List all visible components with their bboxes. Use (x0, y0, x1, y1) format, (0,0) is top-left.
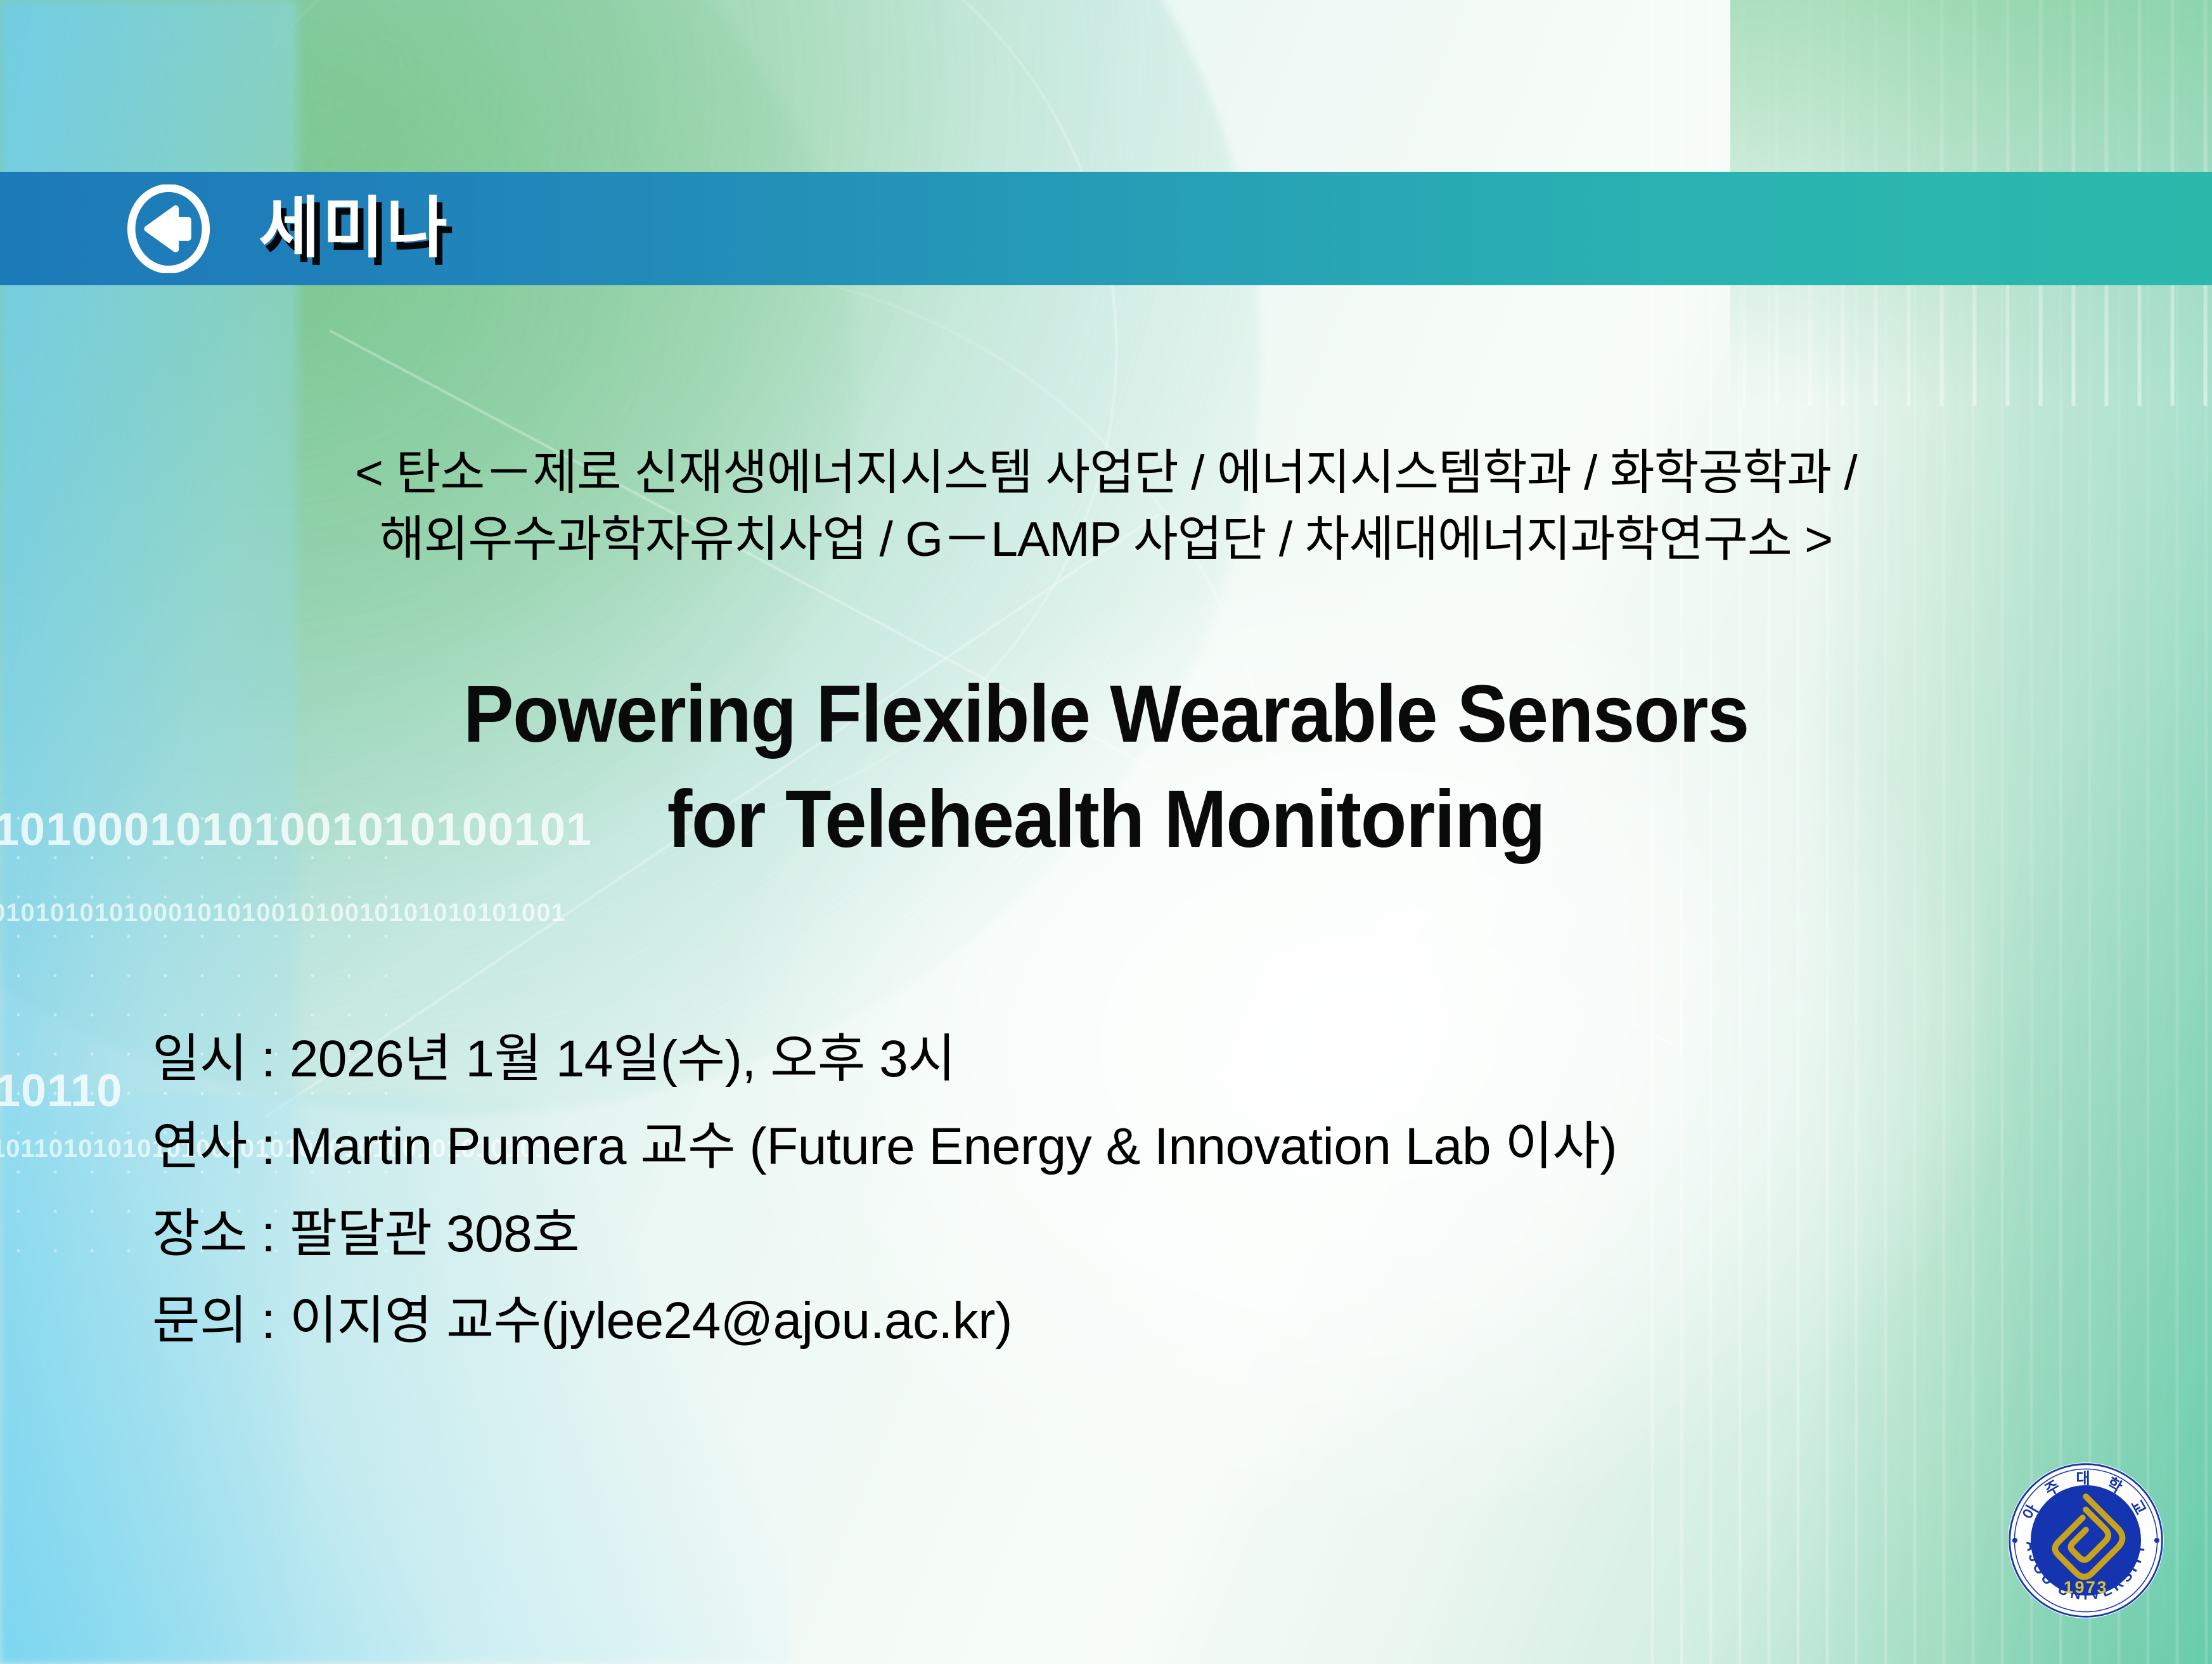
ajou-university-logo: 아 주 대 학 교 AJOU UNIVERSITY 1973 (2005, 1459, 2167, 1622)
organizer-block: < 탄소－제로 신재생에너지시스템 사업단 / 에너지시스템학과 / 화학공학과… (0, 440, 2212, 572)
detail-venue: 장소 : 팔달관 308호 (152, 1190, 1617, 1278)
detail-speaker: 연사 : Martin Pumera 교수 (Future Energy & I… (152, 1103, 1617, 1190)
back-arrow-icon[interactable] (124, 184, 213, 273)
seminar-title: Powering Flexible Wearable Sensors for T… (77, 662, 2135, 873)
seminar-details: 일시 : 2026년 1월 14일(수), 오후 3시 연사 : Martin … (152, 1016, 1617, 1365)
detail-contact: 문의 : 이지영 교수(jylee24@ajou.ac.kr) (152, 1277, 1617, 1365)
organizer-line-2: 해외우수과학자유치사업 / G－LAMP 사업단 / 차세대에너지과학연구소 > (0, 506, 2212, 573)
detail-datetime: 일시 : 2026년 1월 14일(수), 오후 3시 (152, 1016, 1617, 1103)
banner-title: 세미나 (259, 195, 450, 262)
seminar-poster-slide: 10100010101001010100101 0101010101000101… (0, 0, 2212, 1664)
poster-content: < 탄소－제로 신재생에너지시스템 사업단 / 에너지시스템학과 / 화학공학과… (0, 285, 2212, 1664)
organizer-line-1: < 탄소－제로 신재생에너지시스템 사업단 / 에너지시스템학과 / 화학공학과… (0, 440, 2212, 506)
seminar-title-line-2: for Telehealth Monitoring (77, 767, 2135, 872)
seminar-title-line-1: Powering Flexible Wearable Sensors (77, 662, 2135, 767)
seminar-banner: 세미나 (0, 172, 2212, 285)
logo-year: 1973 (2064, 1578, 2108, 1597)
